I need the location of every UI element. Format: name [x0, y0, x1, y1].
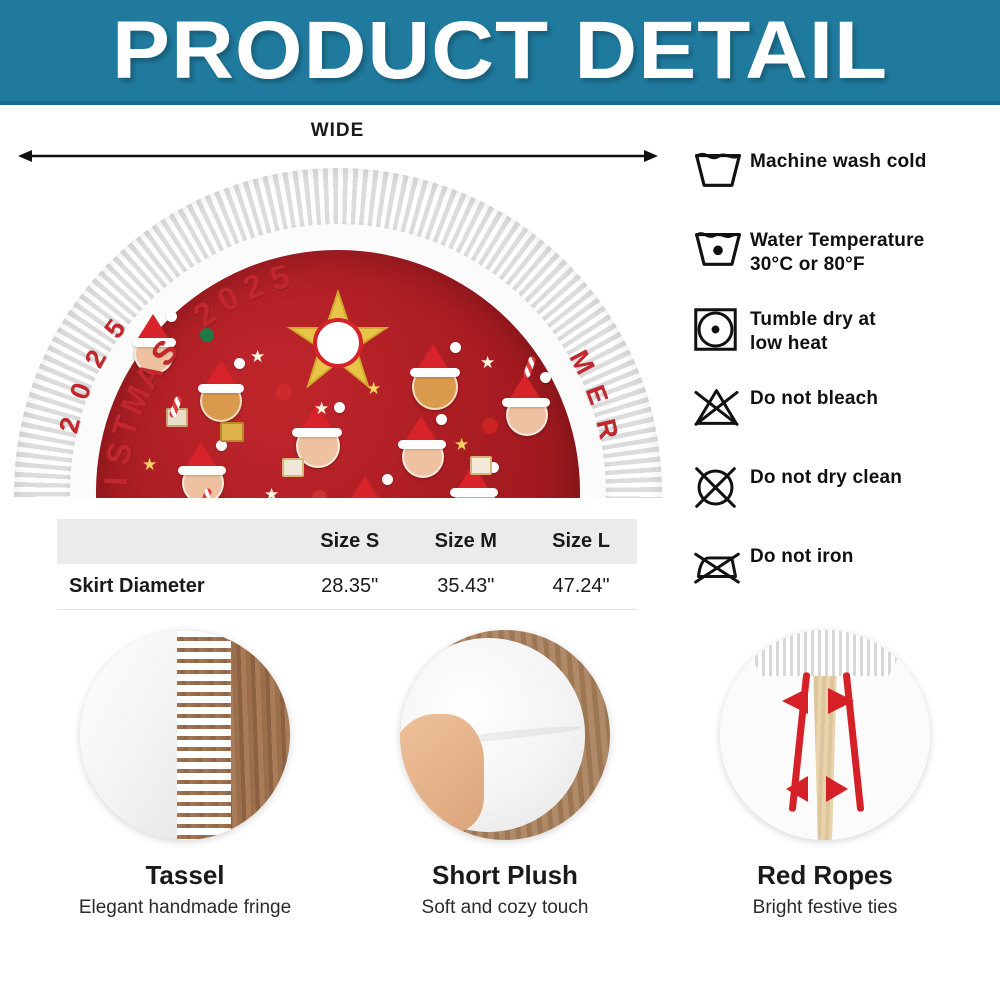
- care-label-line1: Tumble dry at: [750, 308, 876, 332]
- feature-short-plush: Short Plush Soft and cozy touch: [345, 630, 665, 919]
- product-detail-page: PRODUCT DETAIL WIDE: [0, 0, 1000, 1000]
- column-header-size-l: Size L: [525, 519, 637, 564]
- machine-wash-icon: [692, 146, 750, 196]
- care-label: Do not iron: [750, 541, 854, 569]
- tree-skirt-graphic: ★ ★ ★ ★ ★ ★ ★ ★ MERRY CHRISTMAS 2025 202…: [14, 168, 662, 498]
- dimension-label: WIDE: [20, 120, 655, 142]
- feature-red-ropes: Red Ropes Bright festive ties: [665, 630, 985, 919]
- care-label: Tumble dry at low heat: [750, 304, 876, 356]
- do-not-bleach-icon: [692, 383, 750, 433]
- feature-title: Short Plush: [345, 860, 665, 891]
- care-label-line2: low heat: [750, 332, 876, 356]
- feature-subtitle: Bright festive ties: [665, 897, 985, 919]
- cell-size-m: 35.43": [407, 564, 526, 610]
- red-bow: [828, 688, 854, 714]
- width-arrow-icon: [18, 148, 658, 164]
- product-image: ★ ★ ★ ★ ★ ★ ★ ★ MERRY CHRISTMAS 2025 202…: [14, 168, 662, 498]
- care-row-machine-wash: Machine wash cold: [692, 146, 992, 198]
- hand-touching-fabric: [400, 714, 484, 832]
- size-table: Size S Size M Size L Skirt Diameter 28.3…: [57, 519, 637, 610]
- white-fabric-detail: [80, 630, 177, 840]
- red-bow: [826, 776, 848, 802]
- care-row-tumble-dry: Tumble dry at low heat: [692, 304, 992, 356]
- feature-image-short-plush: [400, 630, 610, 840]
- page-header-banner: PRODUCT DETAIL: [0, 0, 1000, 105]
- feature-title: Red Ropes: [665, 860, 985, 891]
- feature-tassel: Tassel Elegant handmade fringe: [25, 630, 345, 919]
- care-label: Water Temperature 30°C or 80°F: [750, 225, 924, 277]
- care-label: Do not bleach: [750, 383, 878, 411]
- page-title: PRODUCT DETAIL: [112, 10, 888, 92]
- table-row: Skirt Diameter 28.35" 35.43" 47.24": [57, 564, 637, 610]
- feature-subtitle: Elegant handmade fringe: [25, 897, 345, 919]
- feature-image-tassel: [80, 630, 290, 840]
- tumble-dry-low-icon: [692, 304, 750, 358]
- care-row-water-temperature: Water Temperature 30°C or 80°F: [692, 225, 992, 277]
- column-header-size-s: Size S: [293, 519, 407, 564]
- red-bow: [786, 776, 808, 802]
- feature-highlights: Tassel Elegant handmade fringe Short Plu…: [0, 630, 1000, 990]
- care-row-do-not-bleach: Do not bleach: [692, 383, 992, 435]
- care-label-line2: 30°C or 80°F: [750, 253, 924, 277]
- column-header-blank: [57, 519, 293, 564]
- cell-size-s: 28.35": [293, 564, 407, 610]
- water-temperature-icon: [692, 225, 750, 275]
- care-label: Machine wash cold: [750, 146, 927, 174]
- do-not-dry-clean-icon: [692, 462, 750, 516]
- table-header-row: Size S Size M Size L: [57, 519, 637, 564]
- feature-title: Tassel: [25, 860, 345, 891]
- row-label-skirt-diameter: Skirt Diameter: [57, 564, 293, 610]
- care-row-do-not-iron: Do not iron: [692, 541, 992, 593]
- cell-size-l: 47.24": [525, 564, 637, 610]
- do-not-iron-icon: [692, 541, 750, 589]
- skirt-arc-text-right: MER: [14, 168, 662, 498]
- tassel-fringe-detail: [737, 630, 913, 676]
- red-bow: [782, 688, 808, 714]
- care-instructions-list: Machine wash cold Water Temperature 30°C…: [692, 146, 992, 620]
- care-label: Do not dry clean: [750, 462, 902, 490]
- feature-subtitle: Soft and cozy touch: [345, 897, 665, 919]
- care-row-do-not-dry-clean: Do not dry clean: [692, 462, 992, 514]
- feature-image-red-ropes: [720, 630, 930, 840]
- care-label-line1: Water Temperature: [750, 229, 924, 253]
- column-header-size-m: Size M: [407, 519, 526, 564]
